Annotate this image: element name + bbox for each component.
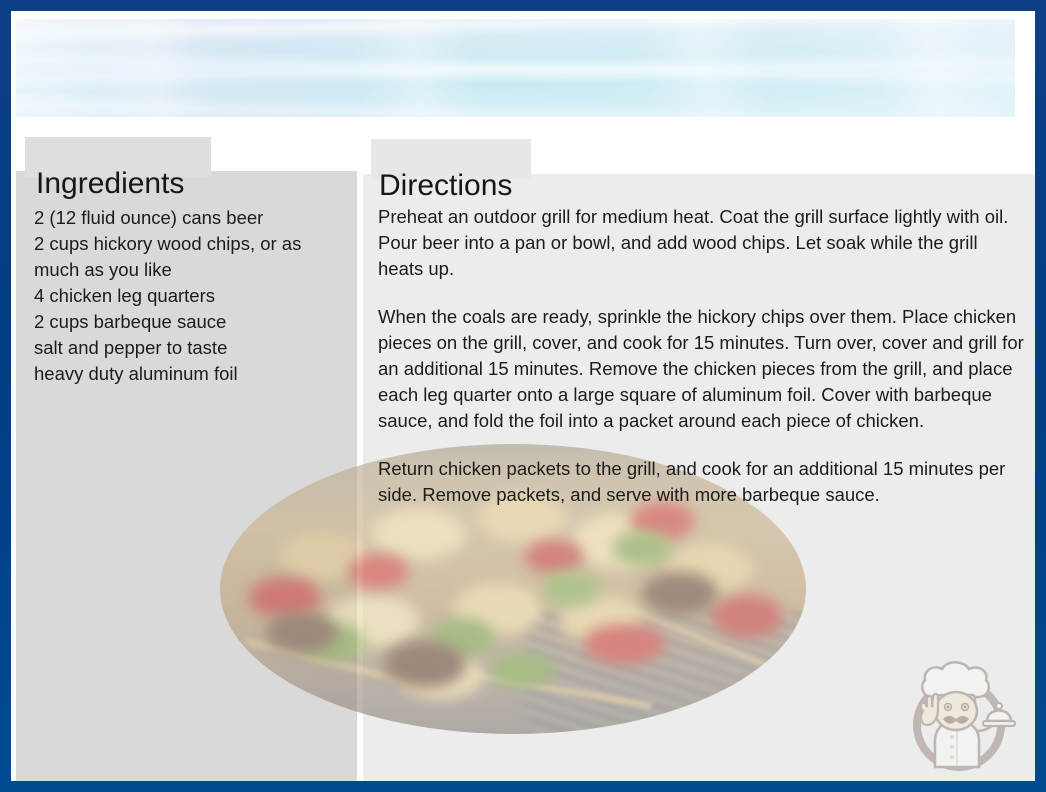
photo-mushroom [642, 572, 718, 616]
photo-red-pepper [349, 554, 408, 589]
photo-red-pepper [712, 595, 782, 639]
directions-list: Preheat an outdoor grill for medium heat… [378, 204, 1024, 508]
chef-logo [893, 645, 1025, 773]
photo-green-pepper [542, 572, 601, 607]
list-item: 4 chicken leg quarters [34, 283, 346, 309]
directions-heading: Directions [379, 169, 512, 203]
banner-spacer [11, 117, 1035, 137]
banner-streak [865, 19, 1004, 117]
card-page: Texas Hickory BBQ Chicken Ingredients Di… [11, 11, 1035, 781]
recipe-card: Texas Hickory BBQ Chicken Ingredients Di… [0, 0, 1046, 792]
direction-step: Preheat an outdoor grill for medium heat… [378, 204, 1024, 282]
list-item: 2 cups hickory wood chips, or as much as… [34, 231, 346, 283]
photo-mushroom [384, 641, 466, 687]
list-item: salt and pepper to taste [34, 335, 346, 361]
list-item: heavy duty aluminum foil [34, 361, 346, 387]
ingredients-heading: Ingredients [36, 167, 184, 201]
photo-green-pepper [490, 653, 554, 688]
banner-streak [346, 19, 485, 117]
banner-streak [636, 19, 775, 117]
direction-step: When the coals are ready, sprinkle the h… [378, 304, 1024, 434]
banner-streak [86, 19, 225, 117]
photo-mushroom [267, 612, 337, 653]
title-banner [16, 19, 1015, 117]
direction-step: Return chicken packets to the grill, and… [378, 456, 1024, 508]
photo-chicken-piece [372, 508, 466, 560]
photo-green-pepper [613, 531, 672, 566]
list-item: 2 cups barbeque sauce [34, 309, 346, 335]
ingredients-list: 2 (12 fluid ounce) cans beer 2 cups hick… [34, 205, 346, 387]
list-item: 2 (12 fluid ounce) cans beer [34, 205, 346, 231]
